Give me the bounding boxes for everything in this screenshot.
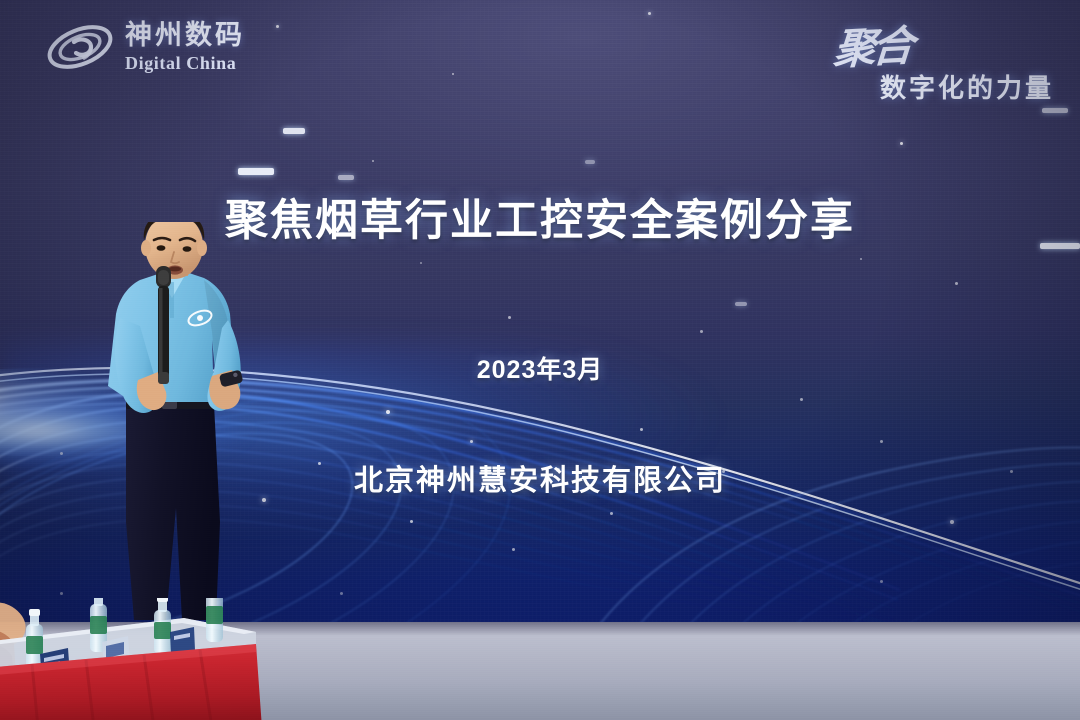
microphone-icon — [156, 266, 171, 384]
speaker-trousers — [126, 404, 220, 620]
speaker-figure-svg — [96, 222, 276, 622]
conference-stage-photo: 聚焦烟草行业工控安全案例分享 2023年3月 北京神州慧安科技有限公司 神州数码… — [0, 0, 1080, 720]
speaker-person — [96, 222, 276, 622]
water-bottle — [206, 598, 223, 642]
water-bottle — [154, 598, 171, 654]
water-bottle — [26, 609, 43, 670]
head-table-svg — [0, 598, 264, 720]
foreground-head-table — [0, 598, 264, 720]
